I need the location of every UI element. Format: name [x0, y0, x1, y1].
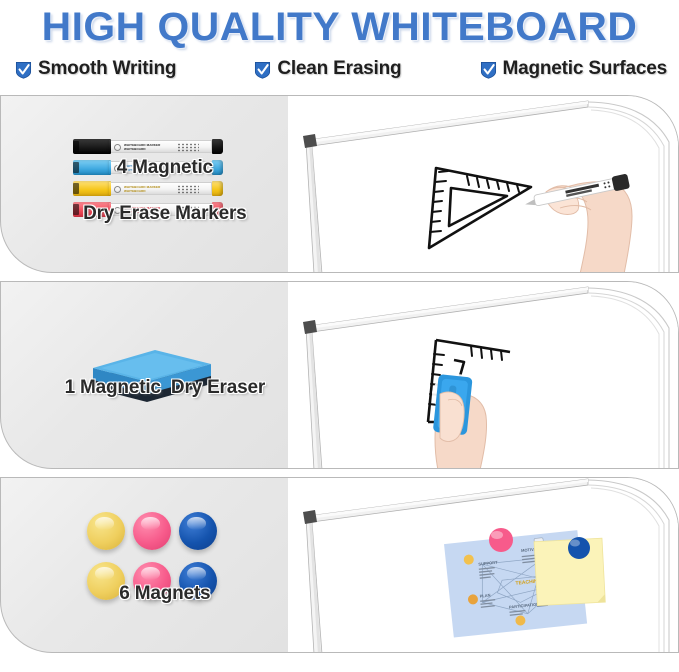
whiteboard-magnetic-scene: TEACHING: [288, 478, 678, 652]
magnet-blue-on-board: [568, 537, 590, 559]
caption-line-2: Dry Erase Markers: [83, 203, 247, 224]
scene-panel-erasing: [288, 281, 679, 469]
feature-item-clean-erasing: Clean Erasing: [253, 58, 401, 80]
feature-label: Magnetic Surfaces: [503, 58, 668, 80]
product-row-magnets: 6 Magnets: [0, 477, 679, 653]
feature-label: Clean Erasing: [277, 58, 401, 80]
caption-line-1: 4 Magnetic: [117, 157, 213, 178]
check-badge-icon: [253, 60, 272, 79]
scene-panel-writing: [288, 95, 679, 273]
magnet-pink-on-board: [489, 528, 513, 552]
product-rows: WHITEBOARD MARKER WHITEBOARD WHITEBOARD …: [0, 95, 679, 653]
product-caption: 1 Magnetic Dry Eraser: [1, 353, 288, 422]
whiteboard-illustration: [288, 282, 678, 468]
whiteboard-illustration: [288, 96, 678, 272]
whiteboard-illustration: TEACHING: [288, 478, 678, 652]
product-panel-magnets: 6 Magnets: [0, 477, 288, 653]
caption-line-1: 1 Magnetic Dry Eraser: [65, 377, 265, 398]
magnet-blue-1: [179, 512, 217, 550]
feature-item-smooth-writing: Smooth Writing: [14, 58, 176, 80]
magnet-pink-1: [133, 512, 171, 550]
check-badge-icon: [479, 60, 498, 79]
product-caption: 4 Magnetic Dry Erase Markers: [1, 133, 288, 248]
product-caption: 6 Magnets: [1, 559, 288, 628]
magnet-yellow-1: [87, 512, 125, 550]
product-row-eraser: 1 Magnetic Dry Eraser: [0, 281, 679, 469]
product-panel-eraser: 1 Magnetic Dry Eraser: [0, 281, 288, 469]
feature-list: Smooth Writing Clean Erasing Magnetic Su…: [0, 52, 679, 80]
feature-item-magnetic-surfaces: Magnetic Surfaces: [479, 58, 668, 80]
whiteboard-erasing-scene: [288, 282, 678, 468]
feature-label: Smooth Writing: [38, 58, 176, 80]
caption-line-1: 6 Magnets: [119, 583, 210, 604]
page-title: HIGH QUALITY WHITEBOARD: [0, 0, 679, 52]
whiteboard-writing-scene: [288, 96, 678, 272]
scene-panel-magnetic: TEACHING: [288, 477, 679, 653]
header-banner: HIGH QUALITY WHITEBOARD Smooth Writing C…: [0, 0, 679, 95]
product-panel-markers: WHITEBOARD MARKER WHITEBOARD WHITEBOARD …: [0, 95, 288, 273]
product-row-markers: WHITEBOARD MARKER WHITEBOARD WHITEBOARD …: [0, 95, 679, 273]
check-badge-icon: [14, 60, 33, 79]
